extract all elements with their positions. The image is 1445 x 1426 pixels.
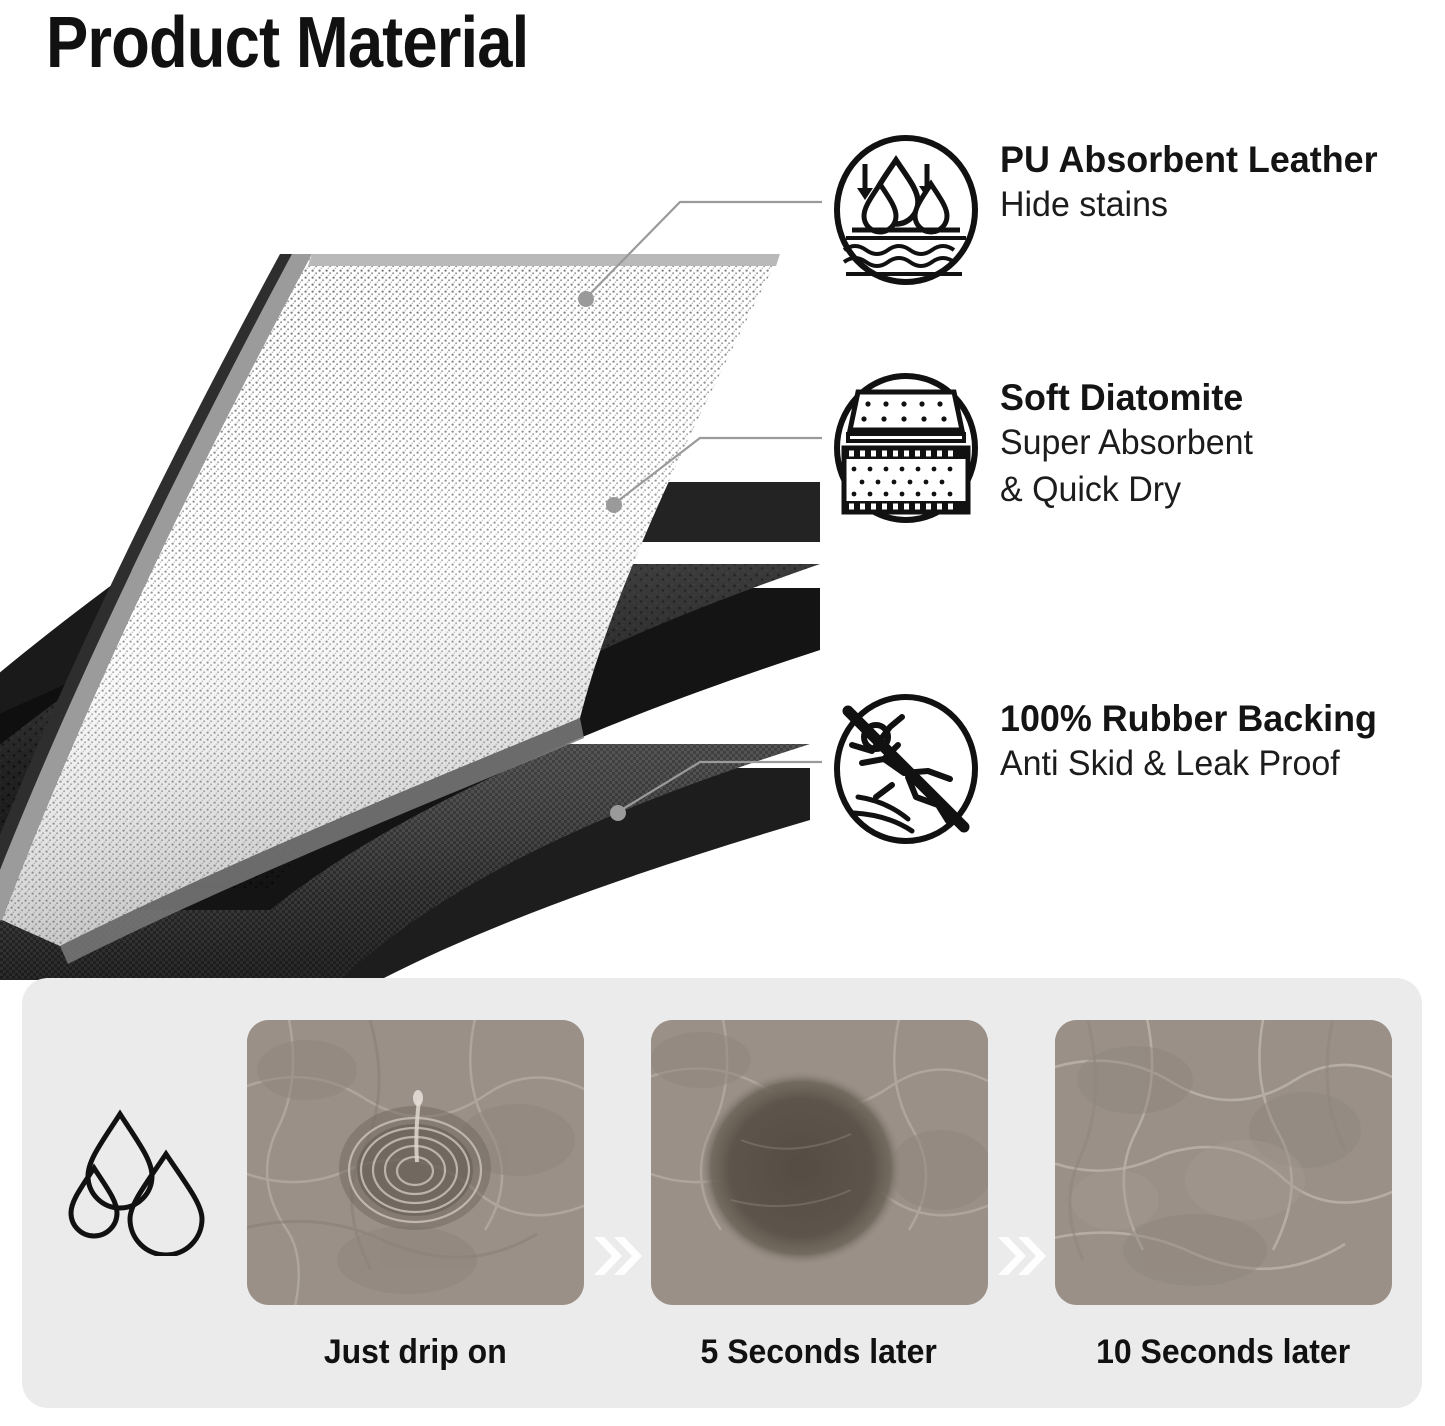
double-chevron-right-icon [994, 1233, 1048, 1279]
demo-step: 10 Seconds later [1048, 1020, 1398, 1372]
feature-subtitle-line: & Quick Dry [1000, 469, 1253, 512]
absorption-demo-panel: Just drip on [22, 978, 1422, 1408]
demo-step: Just drip on [240, 1020, 590, 1372]
step-label: Just drip on [324, 1333, 507, 1372]
feature-pu-absorbent-leather: PU Absorbent Leather Hide stains [832, 134, 1389, 286]
page-title: Product Material [46, 2, 528, 84]
stone-tile-drip [247, 1020, 584, 1305]
demo-step: 5 Seconds later [644, 1020, 994, 1372]
double-chevron-right-icon [590, 1233, 644, 1279]
feature-subtitle-line: Hide stains [1000, 184, 1378, 227]
feature-title: PU Absorbent Leather [1000, 140, 1378, 180]
feature-subtitle-line: Super Absorbent [1000, 422, 1253, 465]
layered-diatomite-icon [832, 372, 980, 524]
feature-title: 100% Rubber Backing [1000, 699, 1377, 739]
stone-tile-wet-spot [651, 1020, 988, 1305]
step-label: 5 Seconds later [701, 1333, 937, 1372]
water-drops-absorb-icon [832, 134, 980, 286]
feature-soft-diatomite: Soft Diatomite Super Absorbent & Quick D… [832, 372, 1261, 524]
infographic-page: Product Material [0, 0, 1445, 1426]
feature-subtitle-line: Anti Skid & Leak Proof [1000, 743, 1377, 786]
step-label: 10 Seconds later [1096, 1333, 1350, 1372]
feature-rubber-backing: 100% Rubber Backing Anti Skid & Leak Pro… [832, 693, 1389, 845]
three-water-drops-icon [62, 1106, 232, 1256]
absorption-steps: Just drip on [240, 1020, 1398, 1372]
no-slipping-icon [832, 693, 980, 845]
feature-title: Soft Diatomite [1000, 378, 1253, 418]
stone-tile-dry [1055, 1020, 1392, 1305]
exploded-mat-illustration [0, 220, 840, 980]
